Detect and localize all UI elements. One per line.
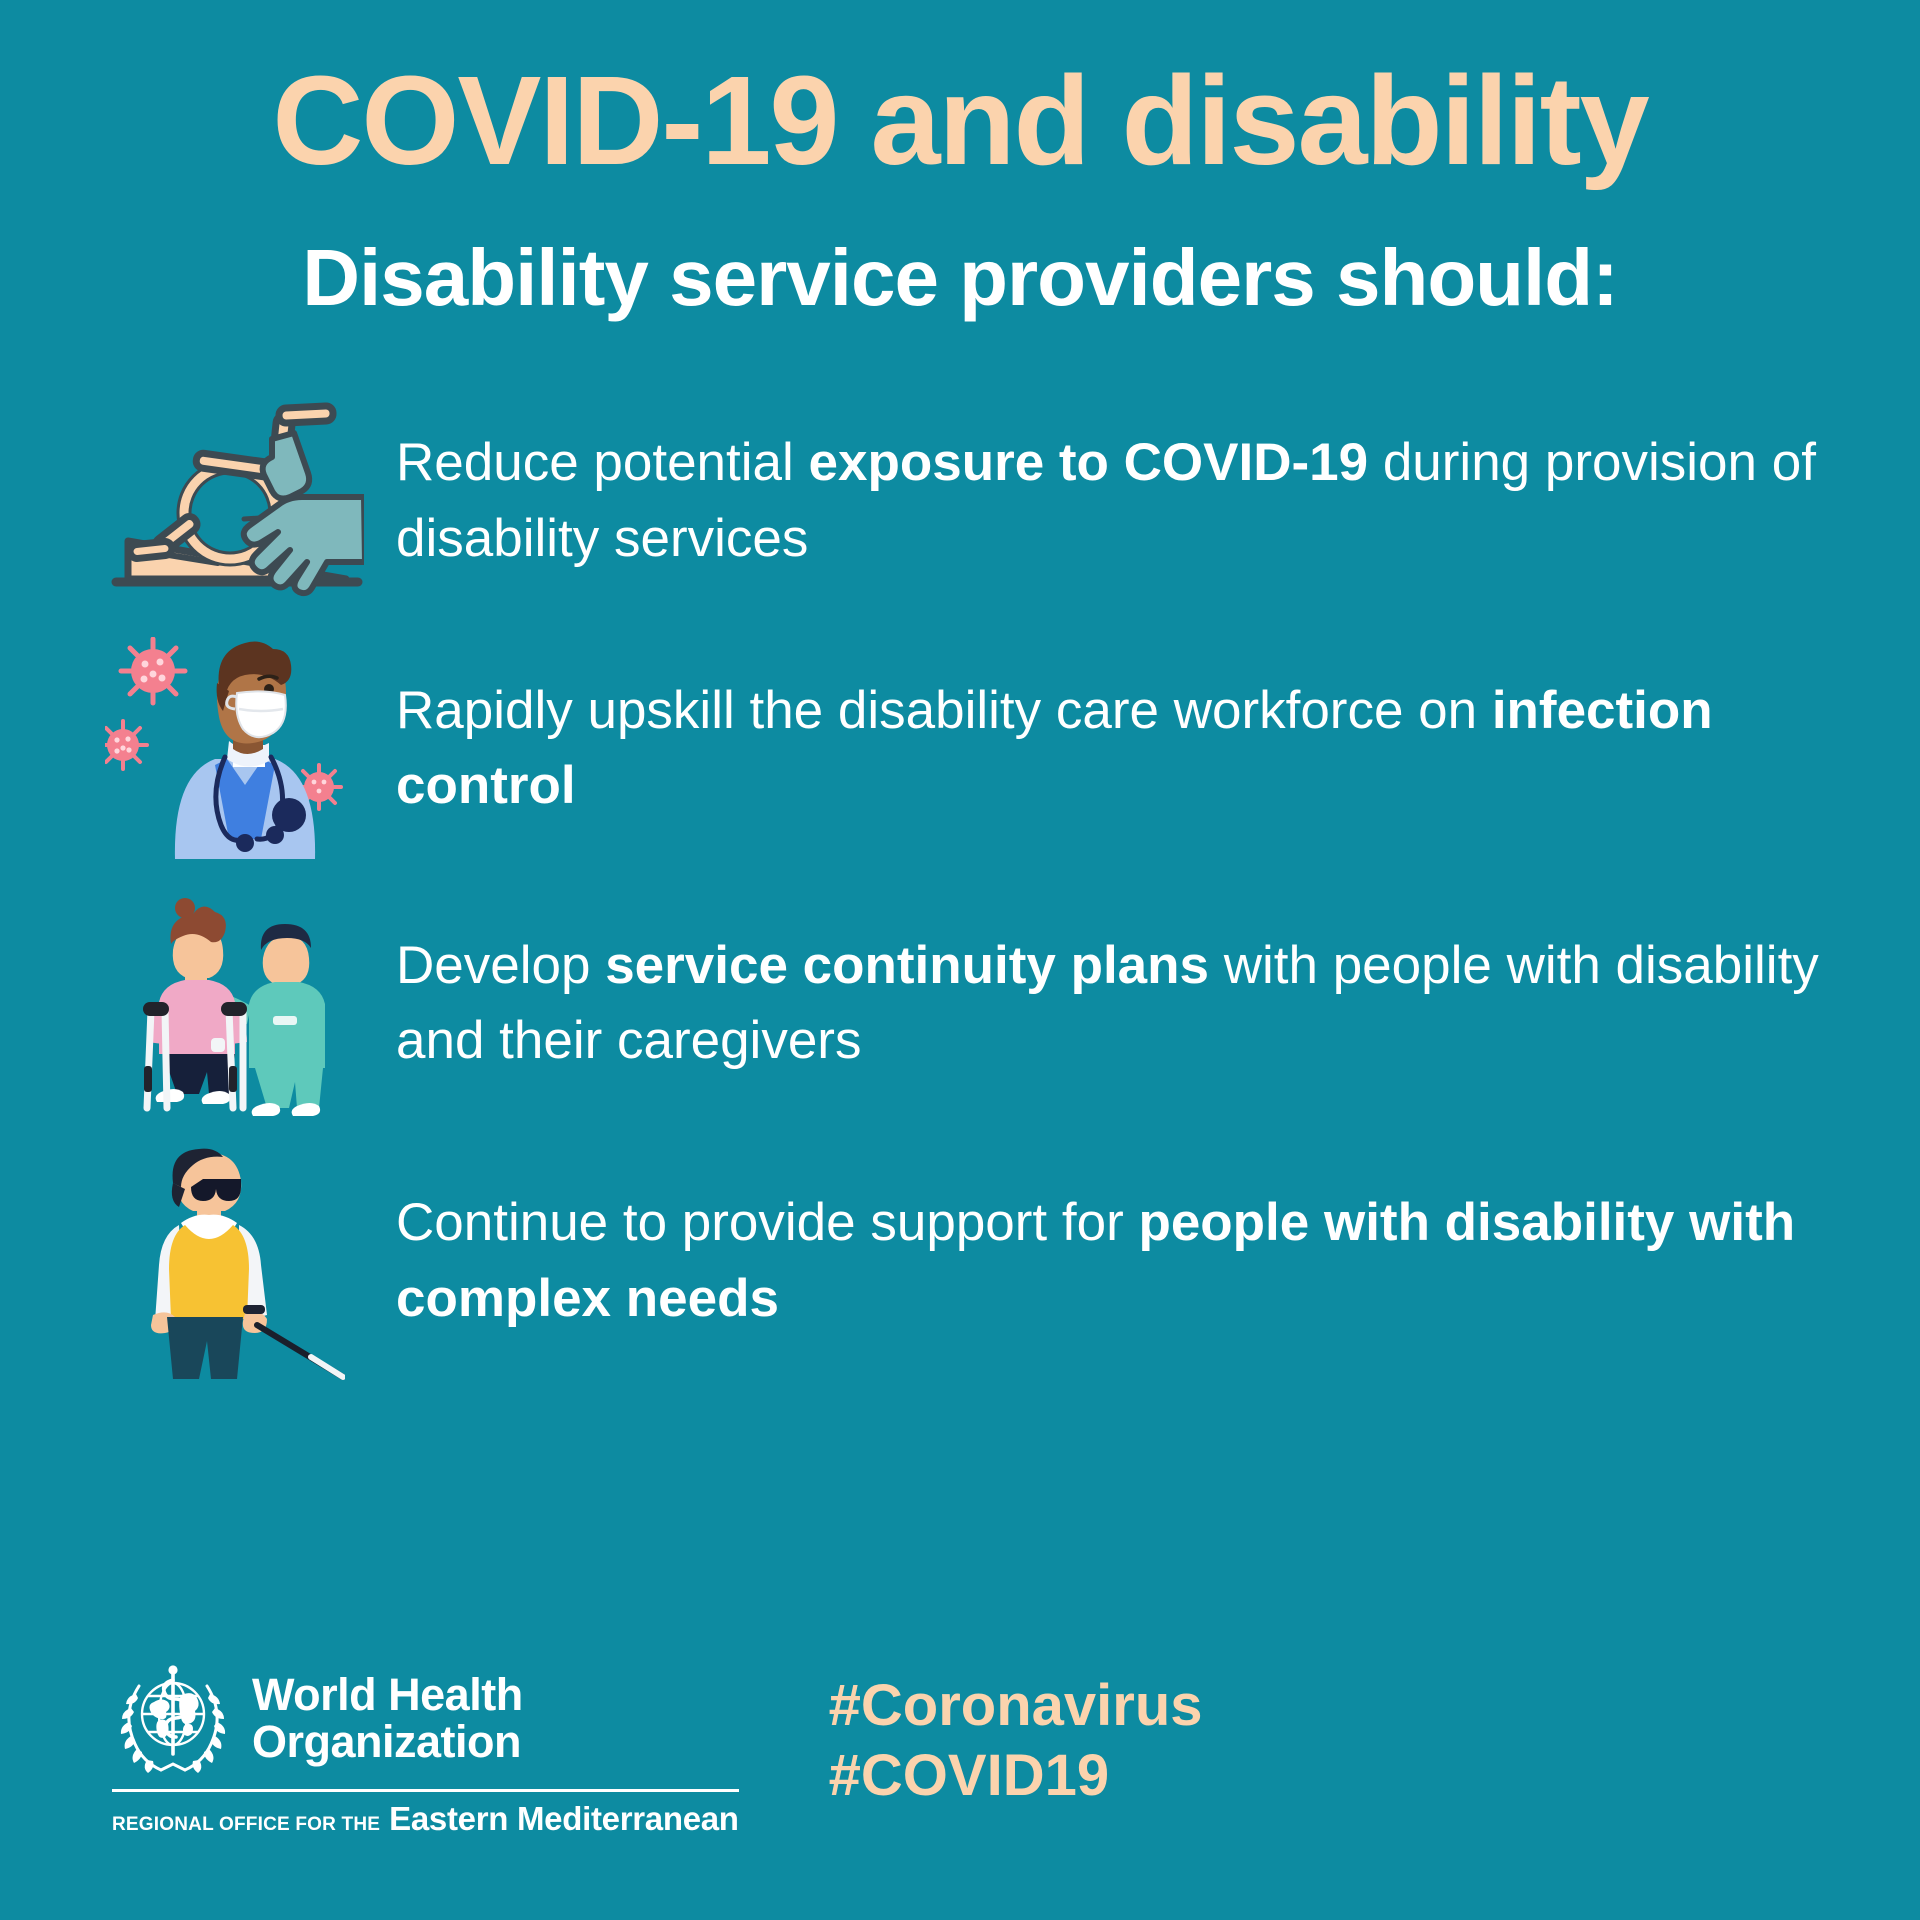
page-subtitle: Disability service providers should: <box>60 236 1860 320</box>
person-crutches-caregiver-icon <box>80 888 380 1118</box>
list-item: Rapidly upskill the disability care work… <box>80 623 1850 873</box>
poster-footer: World Health Organization REGIONAL OFFIC… <box>0 1658 1920 1920</box>
who-line-1: World Health <box>252 1672 523 1719</box>
list-item-text: Rapidly upskill the disability care work… <box>380 673 1850 824</box>
who-region-prefix: REGIONAL OFFICE FOR THE <box>112 1814 380 1836</box>
masked-health-worker-virus-icon <box>80 637 380 859</box>
list-item: Continue to provide support for people w… <box>80 1133 1850 1388</box>
who-region-name: Eastern Mediterranean <box>389 1800 739 1838</box>
list-item: Reduce potential exposure to COVID-19 du… <box>80 378 1850 623</box>
who-region: REGIONAL OFFICE FOR THE Eastern Mediterr… <box>112 1800 739 1838</box>
list-item-text: Reduce potential exposure to COVID-19 du… <box>380 425 1850 576</box>
page-title: COVID-19 and disability <box>60 58 1860 184</box>
recommendation-list: Reduce potential exposure to COVID-19 du… <box>0 378 1920 1388</box>
hashtag-block: #Coronavirus #COVID19 <box>829 1671 1203 1839</box>
poster-header: COVID-19 and disability Disability servi… <box>0 0 1920 320</box>
list-item-text: Develop service continuity plans with pe… <box>380 928 1850 1079</box>
list-item: Develop service continuity plans with pe… <box>80 873 1850 1133</box>
list-item-text: Continue to provide support for people w… <box>380 1185 1850 1336</box>
who-wordmark: World Health Organization <box>252 1672 523 1766</box>
who-divider <box>112 1789 739 1792</box>
who-emblem-icon <box>112 1658 234 1780</box>
wheelchair-ramp-gloved-hand-icon <box>80 401 380 601</box>
who-logo: World Health Organization REGIONAL OFFIC… <box>112 1658 739 1838</box>
blind-man-white-cane-icon <box>80 1141 380 1381</box>
hashtag-coronavirus[interactable]: #Coronavirus <box>829 1671 1203 1742</box>
who-line-2: Organization <box>252 1719 523 1766</box>
infographic-poster: COVID-19 and disability Disability servi… <box>0 0 1920 1920</box>
hashtag-covid19[interactable]: #COVID19 <box>829 1741 1203 1812</box>
